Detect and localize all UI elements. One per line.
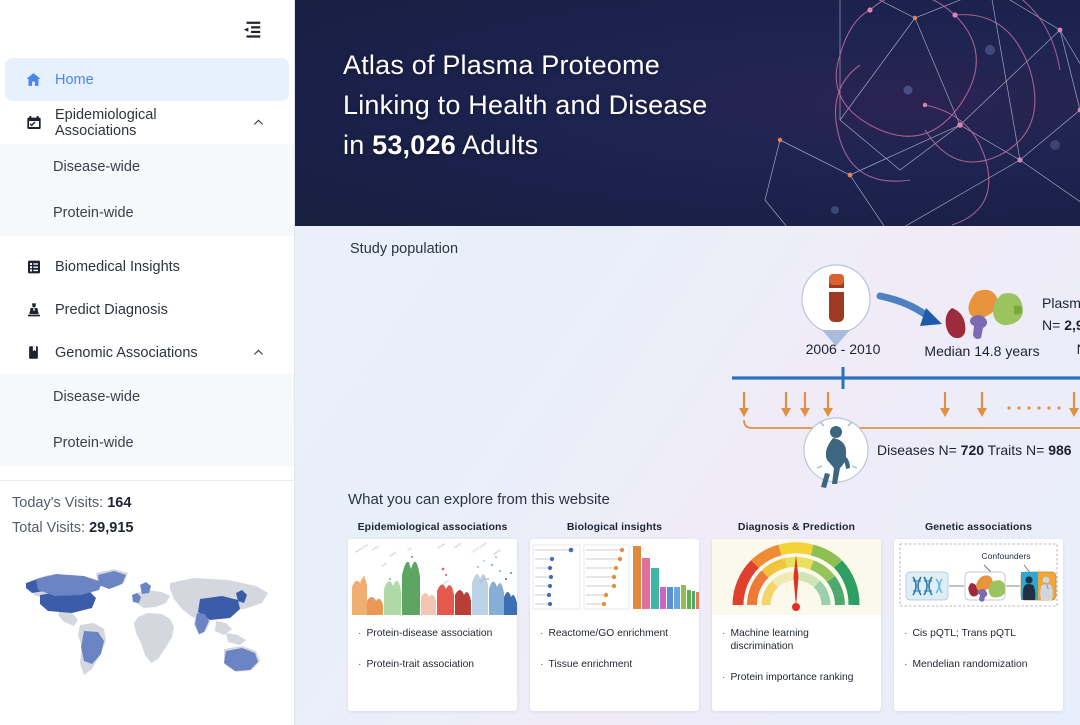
sidebar-nav: Home Epidemiological Associations Diseas…: [0, 58, 294, 466]
bullet-text: Protein-trait association: [366, 658, 474, 671]
total-visits-value: 29,915: [89, 520, 133, 536]
network-graphic: [660, 0, 1080, 226]
submenu-epidemiological: Disease-wide Protein-wide: [0, 144, 294, 236]
manhattan-plot-figure: PRTN3 SPP1 CHI3L1 GDF15 LEP IGFBP4 TNFRS…: [348, 539, 517, 615]
list-grid-icon: [25, 258, 42, 275]
chevron-up-icon[interactable]: [251, 346, 265, 359]
protein-cluster-icon: [946, 290, 1023, 339]
study-population-label: Study population: [350, 241, 458, 257]
card-body: · Reactome/GO enrichment · Tissue enrich…: [530, 615, 699, 689]
sidebar-item-biomedical-insights[interactable]: Biomedical Insights: [5, 245, 289, 288]
hero-line-3: in 53,026 Adults: [343, 125, 708, 165]
card-bullet: · Tissue enrichment: [540, 658, 690, 671]
hero-line-1: Atlas of Plasma Proteome: [343, 45, 708, 85]
curved-arrow-icon: [880, 296, 942, 326]
explore-section-label: What you can explore from this website: [348, 491, 610, 508]
diseases-traits-counts: Diseases N= 720 Traits N= 986: [877, 442, 1072, 458]
bullet-dot: ·: [904, 627, 907, 640]
timeline-axis: [732, 367, 1080, 389]
total-visits-label: Total Visits:: [12, 520, 85, 536]
sidebar-item-label: Epidemiological Associations: [55, 107, 238, 139]
hero-participant-count: 53,026: [372, 130, 456, 160]
hero-line3-pre: in: [343, 130, 372, 160]
card-bullet: · Reactome/GO enrichment: [540, 627, 690, 640]
submenu-item-protein-wide[interactable]: Protein-wide: [0, 190, 294, 236]
bullet-text: Protein importance ranking: [730, 671, 853, 684]
population-node: [1021, 572, 1056, 600]
card-genetic-associations[interactable]: Genetic associations Confounders: [894, 521, 1063, 711]
bullet-dot: ·: [540, 658, 543, 671]
bullet-dot: ·: [904, 658, 907, 671]
card-body: · Protein-disease association · Protein-…: [348, 615, 517, 689]
hero-line3-post: Adults: [456, 130, 538, 160]
sidebar-item-home[interactable]: Home: [5, 58, 289, 101]
date-end-label: Nov. 2023: [1077, 341, 1080, 357]
book-icon: [25, 344, 42, 361]
plasma-proteomics-label: Plasma proteomics: [1042, 295, 1080, 311]
todays-visits-row: Today's Visits: 164: [12, 495, 294, 511]
bullet-text: Reactome/GO enrichment: [548, 627, 668, 640]
card-body: · Machine learning discrimination · Prot…: [712, 615, 881, 702]
median-followup-label: Median 14.8 years: [924, 343, 1039, 359]
bullet-dot: ·: [722, 627, 725, 653]
bullet-text: Machine learning discrimination: [730, 627, 872, 653]
card-diagnosis-prediction[interactable]: Diagnosis & Prediction: [712, 521, 881, 711]
confounders-label: Confounders: [981, 551, 1030, 561]
chevron-up-icon[interactable]: [251, 116, 265, 129]
sidebar-item-label: Predict Diagnosis: [55, 302, 289, 318]
explore-cards: Epidemiological associations: [348, 521, 1064, 711]
total-visits-row: Total Visits: 29,915: [12, 520, 294, 536]
card-bullet: · Protein importance ranking: [722, 671, 872, 684]
nav-spacer: [0, 236, 294, 245]
visit-stats: Today's Visits: 164 Total Visits: 29,915: [0, 480, 294, 545]
bullet-dot: ·: [358, 658, 361, 671]
bullet-text: Tissue enrichment: [548, 658, 632, 671]
gauge-meter-figure: [712, 539, 881, 615]
sidebar-item-label: Home: [55, 72, 289, 88]
sidebar-item-predict-diagnosis[interactable]: Predict Diagnosis: [5, 288, 289, 331]
lollipop-and-bar-figure: [530, 539, 699, 615]
page-title: Atlas of Plasma Proteome Linking to Heal…: [343, 45, 708, 165]
submenu-item-disease-wide[interactable]: Disease-wide: [0, 144, 294, 190]
card-bullet: · Protein-disease association: [358, 627, 508, 640]
card-bullet: · Mendelian randomization: [904, 658, 1054, 671]
date-start-label: 2006 - 2010: [806, 341, 881, 357]
sidebar-item-label: Biomedical Insights: [55, 259, 289, 275]
proteomics-count: N= 2,920 proteins: [1042, 317, 1080, 333]
card-bullet: · Cis pQTL; Trans pQTL: [904, 627, 1054, 640]
sidebar-item-label: Genomic Associations: [55, 345, 238, 361]
card-bullet: · Machine learning discrimination: [722, 627, 872, 653]
timeline-brace: [744, 420, 1080, 435]
bullet-dot: ·: [540, 627, 543, 640]
card-title: Biological insights: [530, 521, 699, 533]
card-biological-insights[interactable]: Biological insights: [530, 521, 699, 711]
sidebar-item-epidemiological-associations[interactable]: Epidemiological Associations: [5, 101, 289, 144]
card-body: · Cis pQTL; Trans pQTL · Mendelian rando…: [894, 615, 1063, 689]
bullet-text: Cis pQTL; Trans pQTL: [912, 627, 1016, 640]
bullet-dot: ·: [722, 671, 725, 684]
dna-node: [906, 572, 948, 600]
home-icon: [25, 71, 42, 88]
sidebar-item-genomic-associations[interactable]: Genomic Associations: [5, 331, 289, 374]
todays-visits-label: Today's Visits:: [12, 495, 103, 511]
todays-visits-value: 164: [107, 495, 131, 511]
protein-node: [965, 572, 1005, 602]
microscope-icon: [25, 301, 42, 318]
card-bullet: · Protein-trait association: [358, 658, 508, 671]
pqtl-confounders-figure: Confounders: [894, 539, 1063, 615]
card-title: Epidemiological associations: [348, 521, 517, 533]
card-epidemiological-associations[interactable]: Epidemiological associations: [348, 521, 517, 711]
bullet-text: Mendelian randomization: [912, 658, 1027, 671]
world-visitors-map: [0, 545, 294, 725]
elderly-patient-icon: [804, 418, 868, 488]
sidebar-header: [0, 0, 294, 58]
event-arrows: [739, 392, 1080, 417]
submenu-item-protein-wide[interactable]: Protein-wide: [0, 420, 294, 466]
study-population-diagram: Plasma proteomics N= 2,920 proteins 2006…: [590, 226, 1080, 491]
card-title: Genetic associations: [894, 521, 1063, 533]
hero-banner: Atlas of Plasma Proteome Linking to Heal…: [295, 0, 1080, 226]
submenu-genomic: Disease-wide Protein-wide: [0, 374, 294, 466]
sidebar: Home Epidemiological Associations Diseas…: [0, 0, 295, 725]
main-content: Atlas of Plasma Proteome Linking to Heal…: [295, 0, 1080, 725]
bullet-text: Protein-disease association: [366, 627, 492, 640]
submenu-item-disease-wide[interactable]: Disease-wide: [0, 374, 294, 420]
blood-tube-icon: [802, 265, 870, 346]
hero-line-2: Linking to Health and Disease: [343, 85, 708, 125]
card-title: Diagnosis & Prediction: [712, 521, 881, 533]
calendar-check-icon: [25, 114, 42, 131]
menu-fold-icon[interactable]: [240, 17, 264, 41]
ellipsis-dots: [1007, 406, 1060, 409]
bullet-dot: ·: [358, 627, 361, 640]
